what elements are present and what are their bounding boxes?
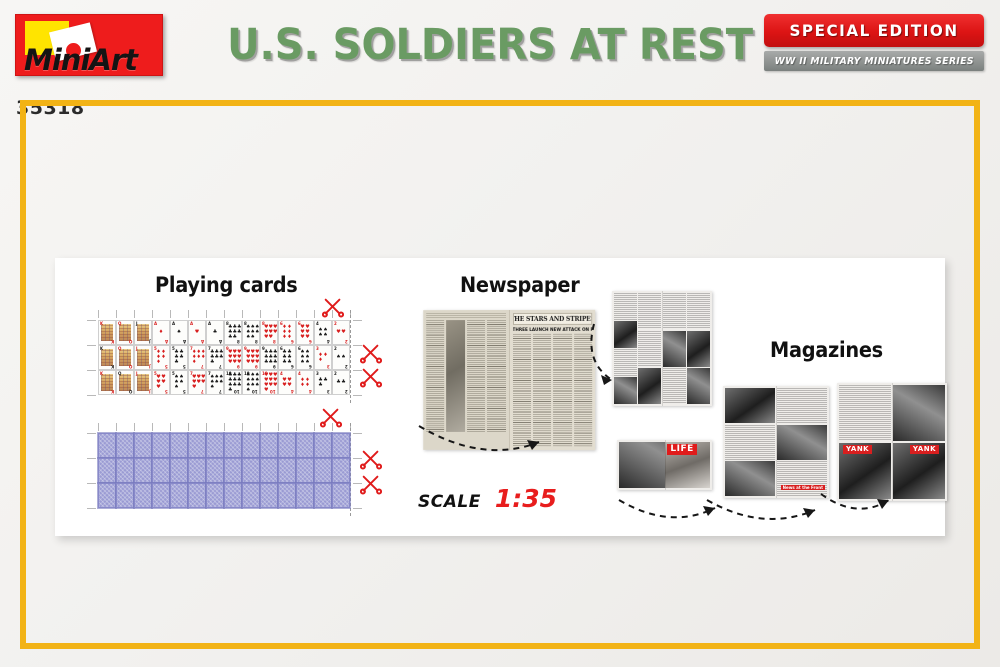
card-pip: ♣: [210, 360, 214, 365]
playing-card-back: [206, 458, 224, 483]
cut-tick-mark: [188, 310, 189, 318]
card-rank: K: [100, 346, 103, 351]
series-badge: WW II MILITARY MINIATURES SERIES: [764, 51, 984, 71]
cut-tick-mark: [87, 320, 96, 321]
playing-card-face: ♣♣♣♣♣♣♣♣♣99: [260, 345, 278, 370]
cut-tick-mark: [353, 395, 362, 396]
magazine-column: [638, 293, 661, 404]
playing-card-face: ♦♦♦♦44: [296, 370, 314, 395]
playing-card-back: [332, 458, 350, 483]
playing-card-face: ♦♦♦♦♦♦♦77: [188, 345, 206, 370]
playing-card-face: ♠♠♠♠♠55: [170, 370, 188, 395]
playing-card-face: JJ: [134, 370, 152, 395]
playing-card-face: ♣♣22: [332, 370, 350, 395]
playing-card-back: [242, 433, 260, 458]
cut-tick-mark: [87, 458, 96, 459]
playing-card-face: ♥♥♥♥♥♥♥♥88: [260, 320, 278, 345]
card-rank: 10: [252, 389, 258, 394]
magazine-fold: [665, 440, 666, 490]
playing-card-back: [332, 433, 350, 458]
card-pip: ♥: [336, 330, 340, 335]
card-pip: ♦: [201, 355, 205, 360]
cut-tick-mark: [87, 370, 96, 371]
card-rank: 6: [280, 321, 283, 326]
playing-card-face: KK: [98, 370, 116, 395]
card-rank: 4: [291, 389, 294, 394]
playing-card-face: QQ: [116, 370, 134, 395]
card-pip: ♥: [300, 335, 304, 340]
playing-card-face: ♠♠♠♠♠♠♠♠♠♠1010: [242, 370, 260, 395]
card-pips: ♠♠♠♠♠♠: [300, 350, 310, 365]
scissors-icon: [360, 366, 382, 388]
card-rank: A: [183, 339, 186, 344]
cut-tick-mark: [296, 423, 297, 431]
card-pip: ♥: [195, 330, 199, 335]
card-rank: K: [111, 339, 114, 344]
card-rank: 7: [201, 364, 204, 369]
card-rank: J: [149, 364, 151, 369]
playing-card-face: ♠AA: [170, 320, 188, 345]
card-pip: ♣: [179, 355, 183, 360]
magazine-column: [893, 385, 945, 499]
cut-tick-mark: [296, 310, 297, 318]
card-rank: 5: [172, 346, 175, 351]
magazine-photo: [687, 331, 710, 367]
card-rank: 3: [327, 389, 330, 394]
playing-card-back: [98, 483, 116, 508]
card-rank: 10: [262, 371, 268, 376]
card-pip: ♣: [318, 383, 322, 388]
cut-tick-mark: [87, 395, 96, 396]
magazine-fold: [892, 383, 893, 501]
card-pip: ♣: [213, 330, 217, 335]
logo-brand-text: MiniArt: [24, 43, 137, 76]
playing-card-back: [152, 483, 170, 508]
card-pip: ♠: [318, 333, 322, 338]
card-pip: ♥: [156, 385, 160, 390]
card-pip: ♠: [177, 330, 181, 335]
scale-value: 1:35: [495, 484, 557, 513]
curved-arrow-icon: [590, 318, 636, 398]
cut-tick-mark: [87, 433, 96, 434]
card-pip: ♠: [336, 355, 340, 360]
card-rank: 8: [262, 321, 265, 326]
playing-card-back: [152, 433, 170, 458]
special-edition-label: SPECIAL EDITION: [789, 21, 958, 40]
card-rank: 8: [273, 339, 276, 344]
card-pip: ♠: [210, 385, 214, 390]
playing-card-face: ♣♣♣♣♣55: [170, 345, 188, 370]
card-pips: ♣♣♣: [318, 375, 328, 390]
card-rank: 10: [244, 371, 250, 376]
yank-logo: YANK: [910, 445, 939, 454]
magazine-column: [663, 293, 686, 404]
card-rank: 7: [190, 371, 193, 376]
cut-line: [350, 423, 351, 516]
card-rank: 4: [280, 371, 283, 376]
magazine-fold: [776, 386, 777, 498]
card-rank: 6: [309, 364, 312, 369]
playing-card-back: [206, 483, 224, 508]
cut-tick-mark: [170, 423, 171, 431]
cut-tick-mark: [242, 310, 243, 318]
newspaper-left-rule: [426, 313, 505, 318]
card-pip: ♥: [264, 388, 268, 393]
card-rank: 10: [234, 389, 240, 394]
card-rank: 5: [172, 371, 175, 376]
magazine-column: [839, 385, 891, 499]
card-rank: 5: [165, 389, 168, 394]
card-pips: ♥♥: [336, 325, 346, 340]
card-pip: ♠: [255, 383, 259, 388]
card-pip: ♣: [237, 330, 241, 335]
magazine-life-cover: LIFE: [665, 442, 710, 488]
magazine-text-block: [687, 293, 710, 329]
magazine-text-block: [839, 385, 891, 441]
section-title-playing-cards: Playing cards: [155, 273, 298, 297]
playing-card-back: [134, 483, 152, 508]
playing-card-faces-grid: KKQQJJ♦AA♠AA♥AA♣AA♣♣♣♣♣♣♣♣88♠♠♠♠♠♠♠♠88♥♥…: [98, 320, 350, 395]
card-pip: ♥: [287, 383, 291, 388]
cut-tick-mark: [314, 310, 315, 318]
card-rank: A: [165, 339, 168, 344]
cut-tick-mark: [87, 345, 96, 346]
card-pip: ♣: [341, 380, 345, 385]
playing-card-back: [332, 483, 350, 508]
card-rank: Q: [129, 389, 132, 394]
playing-card-back: [278, 458, 296, 483]
card-pips: ♣♣♣♣♣: [174, 350, 184, 365]
newspaper-column: [426, 320, 444, 432]
yank-logo: YANK: [843, 445, 872, 454]
card-pip: ♦: [156, 360, 160, 365]
card-pips: ♣♣♣♣♣♣: [282, 350, 292, 365]
card-pip: ♥: [282, 383, 286, 388]
playing-card-face: ♣AA: [206, 320, 224, 345]
cut-tick-mark: [224, 310, 225, 318]
cut-tick-mark: [224, 423, 225, 431]
court-card-art: [137, 349, 149, 366]
card-pips: ♠♠♠♠: [318, 325, 328, 340]
magazine-life: LIFE: [617, 440, 712, 490]
playing-card-face: ♥♥♥♥♥♥♥♥♥99: [242, 345, 260, 370]
card-pip: ♠: [255, 330, 259, 335]
playing-card-back: [260, 433, 278, 458]
card-rank: A: [154, 321, 157, 326]
magazine-photo: [725, 461, 775, 496]
playing-card-back: [224, 483, 242, 508]
curved-arrow-icon: [413, 420, 563, 468]
playing-card-back: [260, 483, 278, 508]
card-rank: 9: [237, 364, 240, 369]
card-rank: A: [219, 339, 222, 344]
scale-label: SCALE: [418, 492, 481, 512]
card-pip: ♥: [273, 383, 277, 388]
card-rank: 8: [255, 339, 258, 344]
card-pip: ♣: [219, 355, 223, 360]
cut-tick-mark: [98, 423, 99, 431]
scissors-icon: [320, 406, 342, 428]
card-pips: ♣: [210, 325, 220, 340]
card-rank: A: [190, 321, 193, 326]
card-rank: 9: [262, 346, 265, 351]
card-rank: 2: [334, 346, 337, 351]
playing-card-face: KK: [98, 320, 116, 345]
page-header: MiniArt 35318 U.S. SOLDIERS AT REST SPEC…: [0, 0, 1000, 100]
playing-card-face: ♥♥♥♥♥♥♥77: [188, 370, 206, 395]
scissors-icon: [360, 342, 382, 364]
newspaper-headline: THREE LAUNCH NEW ATTACK ON PENINSULA: [512, 327, 592, 332]
card-pips: ♠♠♠♠♠: [174, 375, 184, 390]
card-pips: ♦♦♦♦♦♦♦: [192, 350, 202, 365]
playing-card-face: ♥♥♥♥♥55: [152, 370, 170, 395]
card-pip: ♣: [336, 380, 340, 385]
magazine-column: [777, 388, 827, 496]
card-pips: ♥♥♥♥: [282, 375, 292, 390]
card-rank: 9: [273, 364, 276, 369]
cut-tick-mark: [353, 508, 362, 509]
card-rank: K: [100, 321, 103, 326]
playing-card-back: [188, 433, 206, 458]
cut-tick-mark: [152, 423, 153, 431]
card-pip: ♥: [273, 330, 277, 335]
playing-card-back: [242, 458, 260, 483]
magazine-text-block: [614, 293, 637, 320]
playing-card-face: ♠♠22: [332, 345, 350, 370]
playing-card-face: KK: [98, 345, 116, 370]
card-pip: ♠: [323, 333, 327, 338]
card-rank: 9: [255, 364, 258, 369]
card-pips: ♣♣: [336, 375, 346, 390]
playing-card-face: ♦♦♦♦♦55: [152, 345, 170, 370]
playing-card-face: ♥AA: [188, 320, 206, 345]
card-pips: ♦♦♦♦♦♦: [282, 325, 292, 340]
card-rank: 2: [334, 321, 337, 326]
page-title: U.S. SOLDIERS AT REST: [227, 18, 734, 72]
card-rank: 7: [190, 346, 193, 351]
playing-card-back: [224, 458, 242, 483]
playing-card-back: [260, 458, 278, 483]
card-rank: 2: [345, 389, 348, 394]
magazine-photo: [725, 388, 775, 423]
magazine-column: [687, 293, 710, 404]
cut-tick-mark: [87, 483, 96, 484]
cut-tick-mark: [98, 310, 99, 318]
card-pips: ♥♥♥♥♥♥: [300, 325, 310, 340]
playing-card-back: [296, 433, 314, 458]
card-pips: ♠♠♠♠♠♠♠♠♠♠: [246, 375, 256, 390]
magazine-text-block: [725, 425, 775, 460]
playing-card-back: [134, 433, 152, 458]
card-rank: Q: [118, 371, 121, 376]
playing-card-face: ♥♥♥♥♥♥♥♥♥99: [224, 345, 242, 370]
cut-tick-mark: [278, 310, 279, 318]
cut-tick-mark: [242, 423, 243, 431]
newspaper-left-columns: [426, 320, 505, 432]
card-pips: ♥♥♥♥♥♥♥♥♥: [246, 350, 256, 365]
card-rank: 10: [226, 371, 232, 376]
card-rank: Q: [118, 346, 121, 351]
magazine-photo: [687, 368, 710, 404]
card-pips: ♥♥♥♥♥♥♥♥♥: [228, 350, 238, 365]
card-pip: ♣: [228, 388, 232, 393]
card-pips: ♥♥♥♥♥: [156, 375, 166, 390]
cut-tick-mark: [188, 423, 189, 431]
card-rank: 3: [316, 371, 319, 376]
card-rank: 7: [219, 364, 222, 369]
card-rank: 9: [226, 346, 229, 351]
card-rank: 4: [327, 339, 330, 344]
playing-card-back: [188, 458, 206, 483]
card-pip: ♠: [219, 380, 223, 385]
scissors-icon: [360, 448, 382, 470]
card-pips: ♠♠♠♠♠♠♠♠: [246, 325, 256, 340]
card-pip: ♥: [161, 380, 165, 385]
card-rank: 8: [237, 339, 240, 344]
playing-card-back: [224, 433, 242, 458]
card-pip: ♦: [305, 383, 309, 388]
card-pips: ♦♦♦♦: [300, 375, 310, 390]
playing-card-back: [170, 483, 188, 508]
playing-card-face: JJ: [134, 345, 152, 370]
card-pip: ♠: [246, 388, 250, 393]
playing-card-back: [116, 433, 134, 458]
card-rank: 7: [208, 346, 211, 351]
card-pip: ♥: [341, 330, 345, 335]
cut-tick-mark: [116, 423, 117, 431]
magazine-text-block: [663, 368, 686, 404]
card-rank: 2: [345, 364, 348, 369]
card-rank: Q: [129, 364, 132, 369]
kit-number: 35318: [16, 97, 85, 119]
playing-card-face: ♣♣♣♣♣♣66: [278, 345, 296, 370]
card-pip: ♦: [282, 335, 286, 340]
playing-card-face: ♠♠♠♠♠♠♠♠88: [242, 320, 260, 345]
card-rank: 3: [316, 346, 319, 351]
playing-card-back: [116, 483, 134, 508]
cut-tick-mark: [87, 508, 96, 509]
card-rank: 9: [244, 346, 247, 351]
card-rank: 5: [183, 364, 186, 369]
playing-card-back: [116, 458, 134, 483]
scissors-icon: [360, 473, 382, 495]
card-pip: ♦: [159, 330, 163, 335]
card-rank: J: [136, 321, 138, 326]
card-rank: 5: [165, 364, 168, 369]
newspaper-column: [467, 320, 485, 432]
card-rank: 6: [291, 339, 294, 344]
playing-card-face: ♦♦♦♦♦♦66: [278, 320, 296, 345]
card-pips: ♠♠: [336, 350, 346, 365]
card-pip: ♦: [300, 383, 304, 388]
card-pip: ♠: [300, 360, 304, 365]
card-pips: ♣♣♣♣♣♣♣♣♣♣: [228, 375, 238, 390]
card-rank: 5: [183, 389, 186, 394]
card-pip: ♠: [179, 380, 183, 385]
card-rank: 7: [219, 389, 222, 394]
card-rank: A: [201, 339, 204, 344]
curved-arrow-icon: [703, 496, 833, 536]
card-rank: 4: [309, 389, 312, 394]
card-pip: ♦: [192, 360, 196, 365]
card-rank: 4: [298, 371, 301, 376]
card-pips: ♥♥♥♥♥♥♥♥: [264, 325, 274, 340]
magazine-photo: [663, 331, 686, 367]
playing-card-face: QQ: [116, 345, 134, 370]
magazine-fold: [662, 291, 663, 406]
newspaper-column: [487, 320, 505, 432]
playing-card-face: ♥♥♥♥♥♥♥♥♥♥1010: [260, 370, 278, 395]
card-pips: ♦♦♦: [318, 350, 328, 365]
card-rank: K: [100, 371, 103, 376]
card-pip: ♣: [174, 360, 178, 365]
card-rank: J: [136, 346, 138, 351]
playing-card-face: ♠♠♠♠♠♠♠77: [206, 370, 224, 395]
card-pips: ♣♣♣♣♣♣♣♣: [228, 325, 238, 340]
newspaper-masthead: THE STARS AND STRIPES: [512, 313, 592, 325]
cut-line: [350, 310, 351, 403]
content-panel: Playing cards Newspaper Magazines KKQQJJ…: [55, 258, 945, 536]
court-card-art: [137, 374, 149, 391]
card-rank: 3: [327, 364, 330, 369]
card-pip: ♦: [161, 355, 165, 360]
card-pip: ♦: [323, 353, 327, 358]
cut-tick-mark: [260, 310, 261, 318]
section-title-magazines: Magazines: [770, 338, 883, 362]
card-rank: J: [149, 389, 151, 394]
playing-card-face: ♠♠♠♠♠♠66: [296, 345, 314, 370]
cut-tick-mark: [116, 310, 117, 318]
playing-card-back: [98, 433, 116, 458]
playing-card-back: [206, 433, 224, 458]
scissors-icon: [322, 296, 344, 318]
card-rank: 2: [334, 371, 337, 376]
miniart-logo: MiniArt: [15, 14, 163, 76]
card-rank: 5: [154, 346, 157, 351]
playing-card-back: [188, 483, 206, 508]
playing-card-back: [314, 458, 332, 483]
curved-arrow-icon: [819, 490, 899, 526]
card-rank: 2: [345, 339, 348, 344]
card-rank: J: [136, 371, 138, 376]
cut-tick-mark: [353, 433, 362, 434]
card-rank: 10: [270, 389, 276, 394]
card-rank: K: [111, 364, 114, 369]
playing-card-backs-grid: [98, 433, 350, 508]
magazine-yank: YANK YANK: [837, 383, 947, 501]
cut-tick-mark: [134, 423, 135, 431]
card-pip: ♣: [282, 360, 286, 365]
card-rank: 6: [298, 346, 301, 351]
card-rank: Q: [129, 339, 132, 344]
card-rank: J: [149, 339, 151, 344]
card-pips: ♣♣♣♣♣♣♣: [210, 350, 220, 365]
cut-tick-mark: [134, 310, 135, 318]
cut-tick-mark: [278, 423, 279, 431]
card-rank: 8: [244, 321, 247, 326]
card-rank: 7: [208, 371, 211, 376]
playing-card-face: ♣♣♣♣♣♣♣♣88: [224, 320, 242, 345]
playing-card-back: [134, 458, 152, 483]
playing-card-face: ♣♣♣♣♣♣♣♣♣♣1010: [224, 370, 242, 395]
card-rank: 6: [309, 339, 312, 344]
card-rank: 5: [154, 371, 157, 376]
cut-tick-mark: [353, 320, 362, 321]
playing-card-face: ♥♥22: [332, 320, 350, 345]
magazine-text-block: [663, 293, 686, 329]
magazine-photo: [638, 368, 661, 404]
card-pip: ♣: [323, 378, 327, 383]
